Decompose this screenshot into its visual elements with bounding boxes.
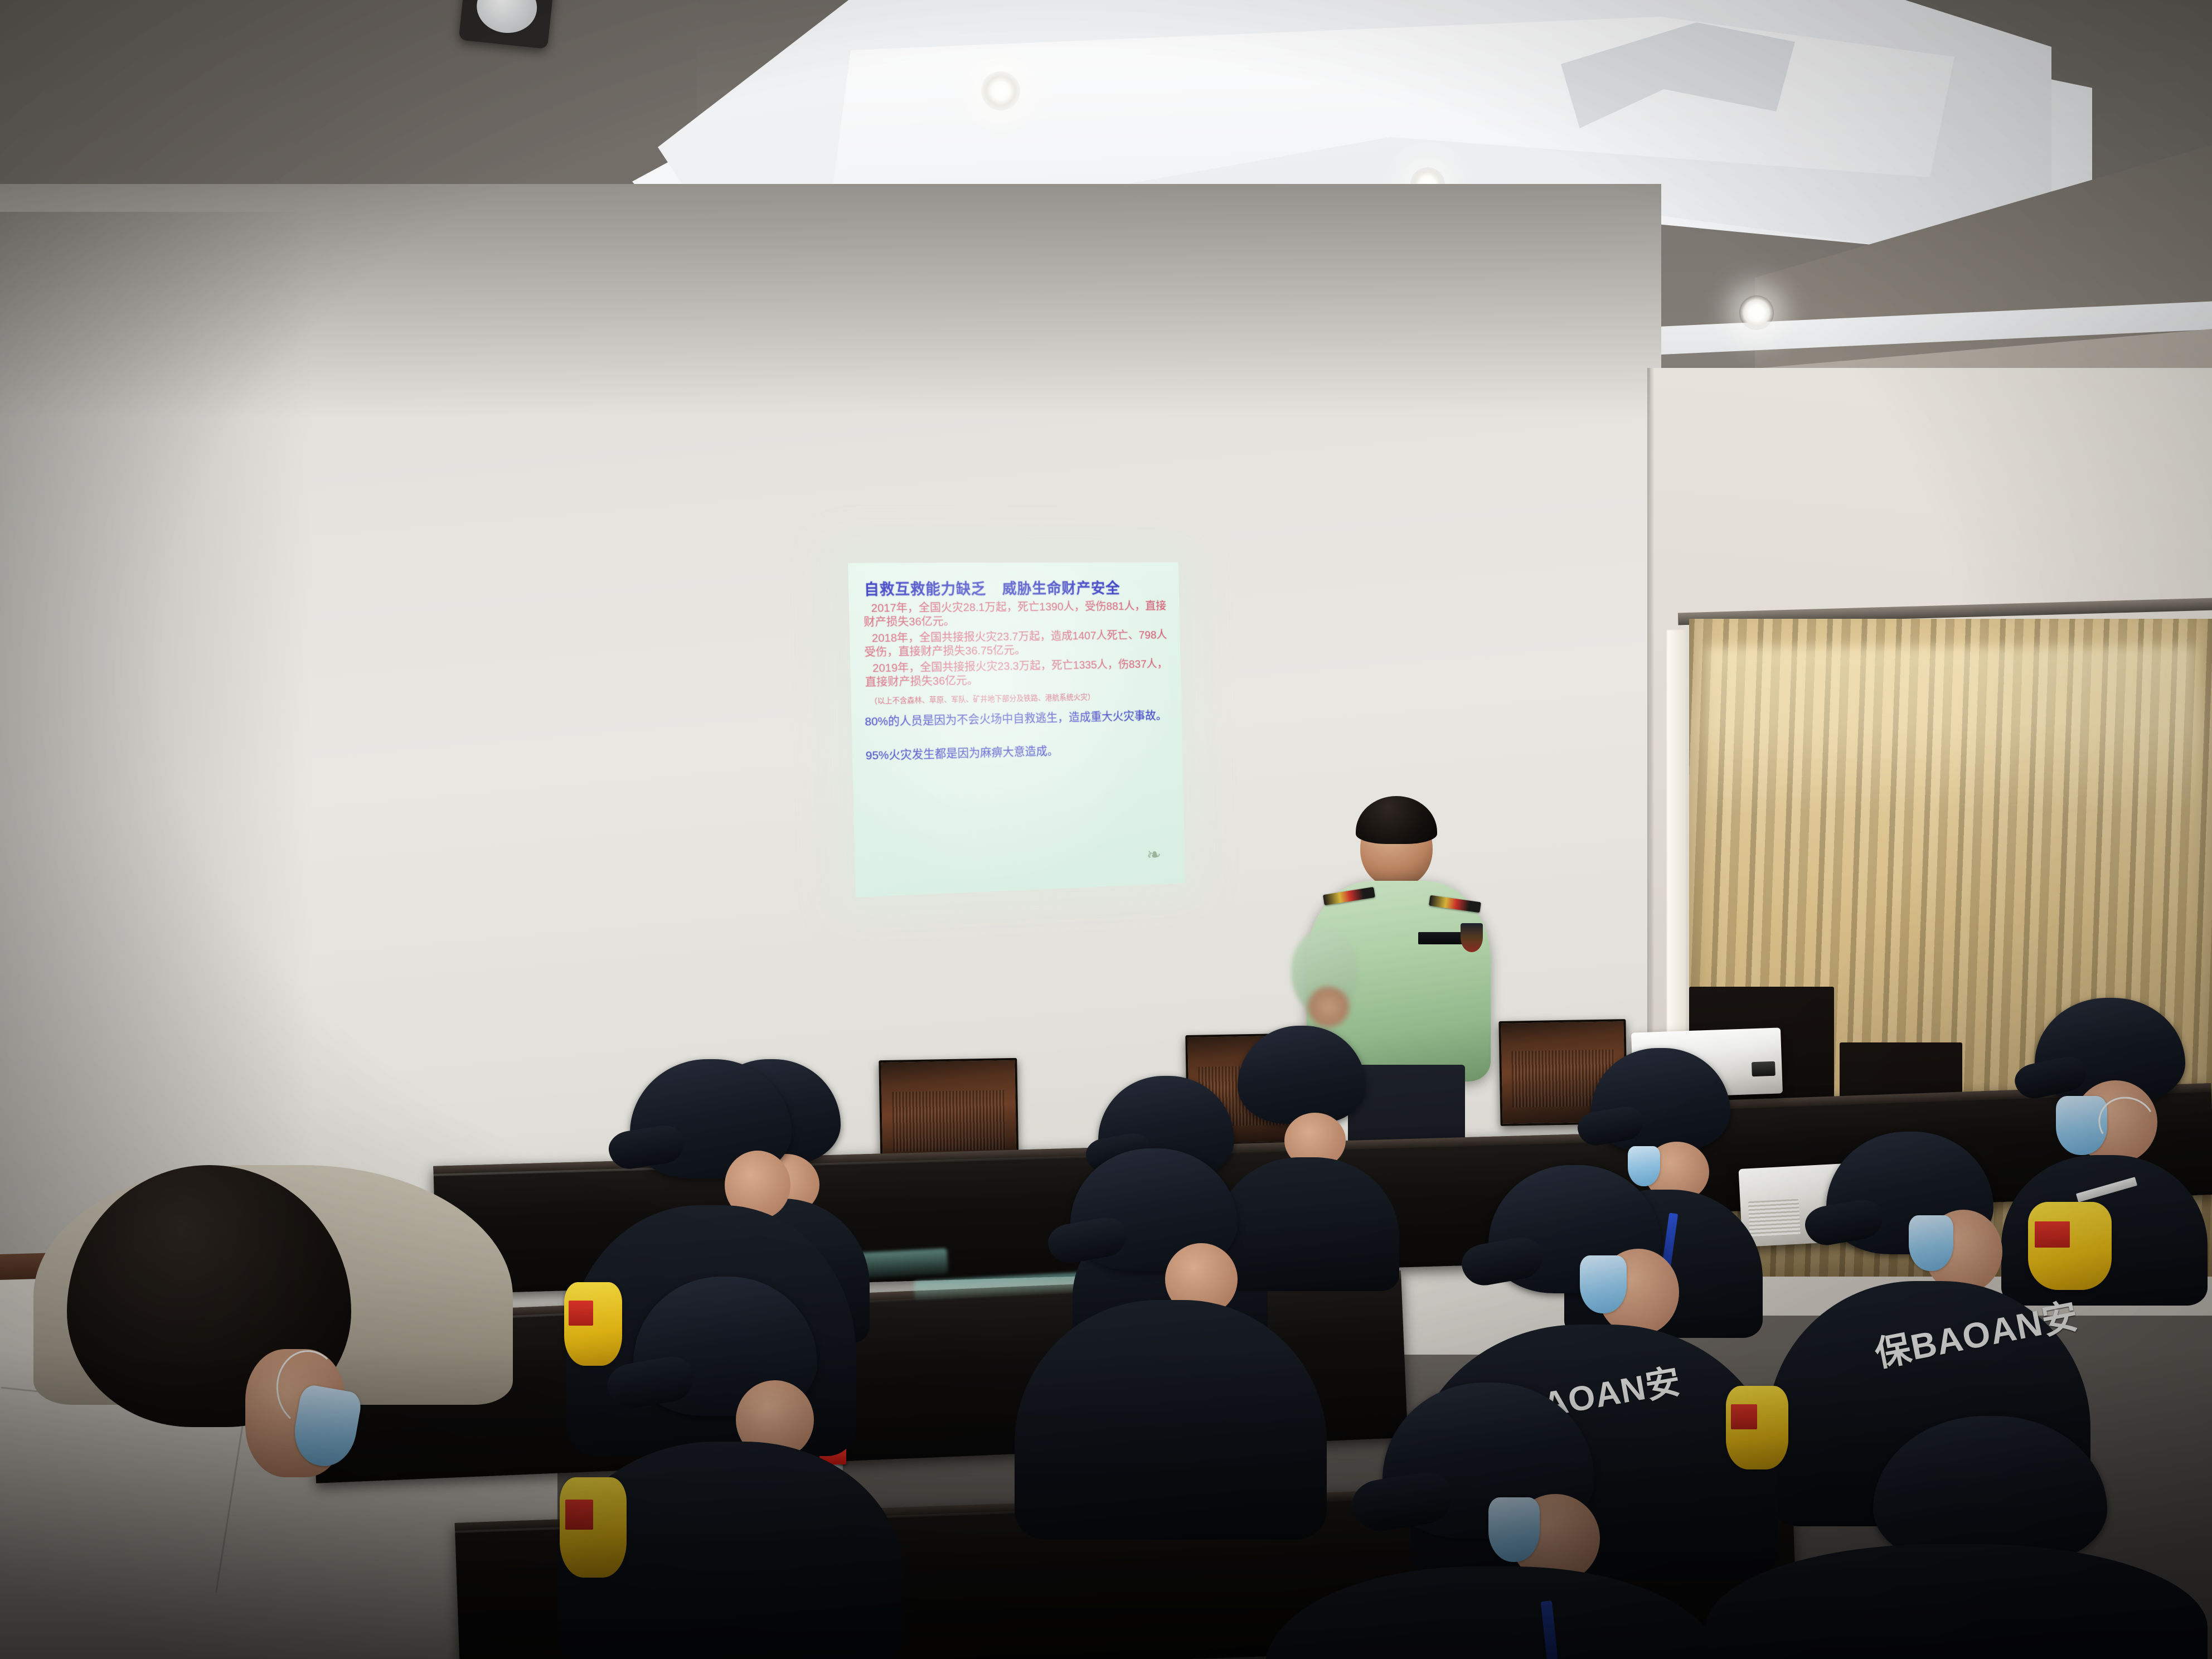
face-mask [1488, 1497, 1540, 1562]
slide-paragraph: 2018年，全国共接报火灾23.7万起，造成1407人死亡、798人受伤，直接财… [864, 628, 1172, 659]
case-latch [1752, 1061, 1776, 1076]
meeting-room-photo: 自救互救能力缺乏威胁生命财产安全 2017年，全国火灾28.1万起，死亡1390… [0, 0, 2212, 1659]
slide-logo-icon: ❧ [1147, 845, 1177, 880]
projection-screen: 自救互救能力缺乏威胁生命财产安全 2017年，全国火灾28.1万起，死亡1390… [848, 562, 1185, 898]
slide-highlight-2: 95%火灾发生都是因为麻痹大意造成。 [866, 741, 1175, 763]
slide-paragraph: 2019年，全国共接报火灾23.3万起，死亡1335人，伤837人，直接财产损失… [865, 657, 1173, 690]
curtain-daylight-glow [1706, 647, 2196, 814]
audience-member [1706, 1416, 2208, 1659]
presenter-shoulder-patch [1461, 923, 1483, 952]
face-mask [1580, 1255, 1627, 1313]
audience-member-civilian [33, 1165, 446, 1659]
slide-title: 自救互救能力缺乏威胁生命财产安全 [864, 576, 1171, 599]
audience-member [580, 1277, 892, 1659]
face-mask [1909, 1215, 1953, 1271]
slide-title-left: 自救互救能力缺乏 [864, 581, 987, 598]
audience-member [1299, 1382, 1689, 1659]
presenter-hand [1308, 987, 1349, 1027]
yellow-armband [560, 1477, 627, 1578]
downlight-icon [981, 71, 1020, 110]
guard-cap [1238, 1026, 1366, 1124]
slide-footnote: （以上不含森林、草原、军队、矿井地下部分及铁路、港航系统火灾） [870, 689, 1173, 706]
presenter-name-tag [1418, 932, 1465, 944]
audience-member [591, 1081, 624, 1115]
slide-paragraph: 2017年，全国火灾28.1万起，死亡1390人，受伤881人，直接财产损失36… [864, 599, 1172, 629]
slide-title-right: 威胁生命财产安全 [1002, 580, 1120, 597]
slide-highlight-1: 80%的人员是因为不会火场中自救逃生，造成重大火灾事故。 [865, 709, 1173, 729]
guard-torso [1015, 1300, 1327, 1540]
guard-torso [1265, 1566, 1723, 1659]
downlight-icon [1739, 295, 1774, 330]
presenter-hair [1356, 796, 1437, 844]
wall-left-shading [0, 212, 312, 1271]
uniform-label-cn2: 安 [2039, 1296, 2082, 1342]
audience-member [1026, 1148, 1316, 1539]
guard-torso [1706, 1544, 2208, 1659]
